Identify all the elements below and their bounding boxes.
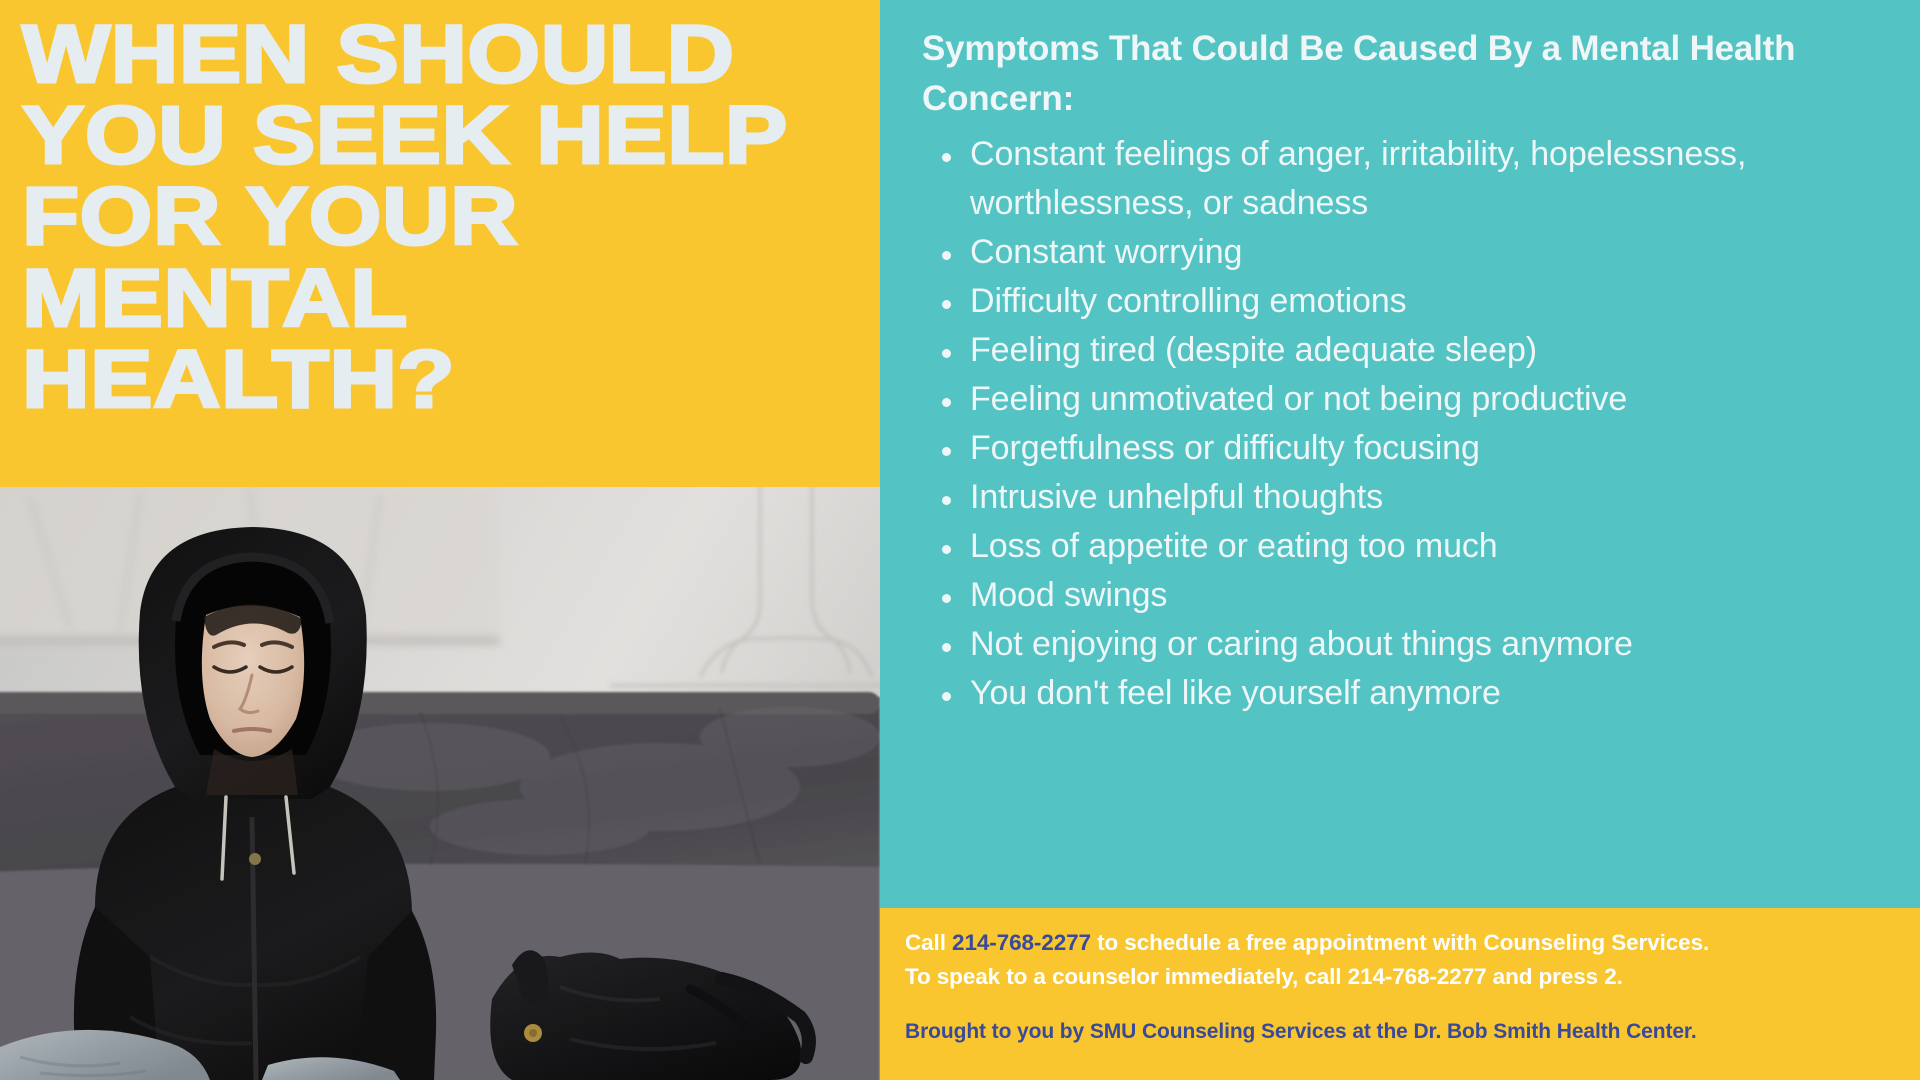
symptoms-list: Constant feelings of anger, irritability… xyxy=(922,130,1890,717)
list-item: Mood swings xyxy=(922,571,1890,620)
list-item: Constant feelings of anger, irritability… xyxy=(922,130,1890,228)
phone-number-primary[interactable]: 214-768-2277 xyxy=(952,930,1091,955)
bullet-dot-icon xyxy=(942,349,951,358)
list-item-label: Intrusive unhelpful thoughts xyxy=(970,478,1383,516)
right-column: Symptoms That Could Be Caused By a Menta… xyxy=(880,0,1920,1080)
list-item: Constant worrying xyxy=(922,228,1890,277)
list-item-label: Feeling tired (despite adequate sleep) xyxy=(970,331,1537,369)
bullet-dot-icon xyxy=(942,545,951,554)
bullet-dot-icon xyxy=(942,643,951,652)
bullet-dot-icon xyxy=(942,692,951,701)
contact-footer: Call 214-768-2277 to schedule a free app… xyxy=(880,908,1920,1080)
infographic-poster: WHEN SHOULD YOU SEEK HELP FOR YOUR MENTA… xyxy=(0,0,1920,1080)
bullet-dot-icon xyxy=(942,300,951,309)
list-item: You don't feel like yourself anymore xyxy=(922,669,1890,718)
bullet-dot-icon xyxy=(942,398,951,407)
left-column: WHEN SHOULD YOU SEEK HELP FOR YOUR MENTA… xyxy=(0,0,880,1080)
list-item-label: Not enjoying or caring about things anym… xyxy=(970,625,1633,663)
list-item-label: Forgetfulness or difficulty focusing xyxy=(970,429,1480,467)
symptoms-panel: Symptoms That Could Be Caused By a Menta… xyxy=(880,0,1920,908)
list-item: Difficulty controlling emotions xyxy=(922,277,1890,326)
list-item-label: Loss of appetite or eating too much xyxy=(970,527,1498,565)
hero-photo xyxy=(0,487,880,1080)
call-to-action-line: Call 214-768-2277 to schedule a free app… xyxy=(905,926,1900,960)
bullet-dot-icon xyxy=(942,251,951,260)
list-item-label: Mood swings xyxy=(970,576,1167,614)
bullet-dot-icon xyxy=(942,153,951,162)
list-item-label: Constant worrying xyxy=(970,233,1242,271)
immediate-help-line: To speak to a counselor immediately, cal… xyxy=(905,960,1900,994)
list-item-label: Constant feelings of anger, irritability… xyxy=(970,135,1746,222)
list-item: Loss of appetite or eating too much xyxy=(922,522,1890,571)
list-item: Intrusive unhelpful thoughts xyxy=(922,473,1890,522)
list-item-label: Feeling unmotivated or not being product… xyxy=(970,380,1627,418)
list-item-label: You don't feel like yourself anymore xyxy=(970,674,1501,712)
list-item: Not enjoying or caring about things anym… xyxy=(922,620,1890,669)
bullet-dot-icon xyxy=(942,594,951,603)
title-block: WHEN SHOULD YOU SEEK HELP FOR YOUR MENTA… xyxy=(0,0,880,487)
call-suffix-text: to schedule a free appointment with Coun… xyxy=(1091,930,1709,955)
list-item: Forgetfulness or difficulty focusing xyxy=(922,424,1890,473)
photo-illustration xyxy=(0,487,880,1080)
list-item: Feeling unmotivated or not being product… xyxy=(922,375,1890,424)
attribution-line: Brought to you by SMU Counseling Service… xyxy=(905,1020,1900,1044)
list-item: Feeling tired (despite adequate sleep) xyxy=(922,326,1890,375)
call-prefix-text: Call xyxy=(905,930,952,955)
list-item-label: Difficulty controlling emotions xyxy=(970,282,1407,320)
page-title: WHEN SHOULD YOU SEEK HELP FOR YOUR MENTA… xyxy=(22,14,977,420)
bullet-dot-icon xyxy=(942,496,951,505)
symptoms-heading: Symptoms That Could Be Caused By a Menta… xyxy=(922,24,1890,124)
bullet-dot-icon xyxy=(942,447,951,456)
